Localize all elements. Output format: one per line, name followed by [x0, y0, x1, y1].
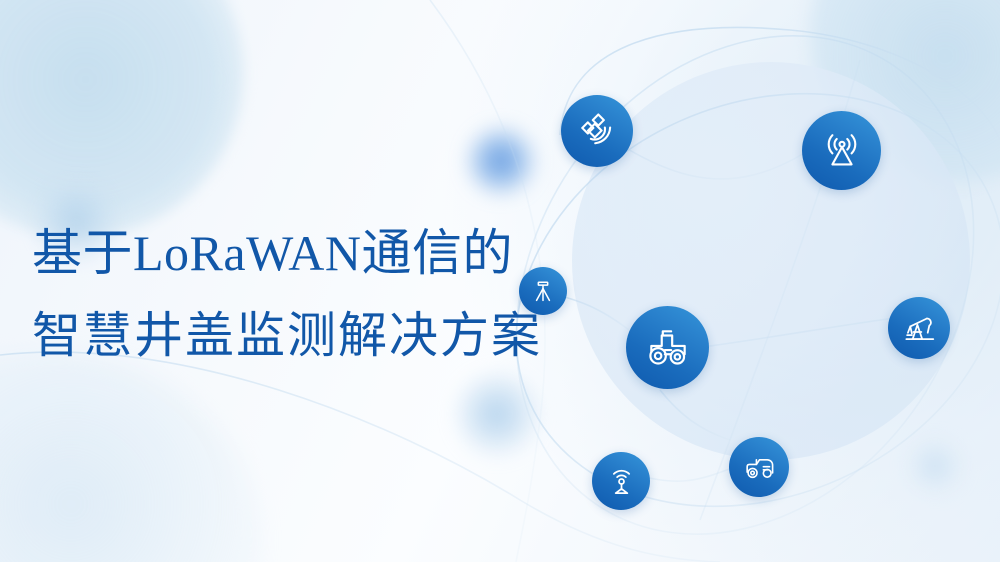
title-line-1: 基于LoRaWAN通信的 — [32, 228, 592, 278]
node-oil-pump[interactable] — [888, 297, 950, 359]
work-vehicle-icon — [741, 449, 778, 486]
node-tractor[interactable] — [626, 306, 709, 389]
node-sensor[interactable] — [592, 452, 650, 510]
radio-tower-icon — [819, 128, 865, 174]
oil-pumpjack-icon — [900, 309, 938, 347]
title-line-2: 智慧井盖监测解决方案 — [32, 312, 592, 361]
node-antenna[interactable] — [802, 111, 881, 190]
wireless-sensor-icon — [604, 464, 639, 499]
tractor-icon — [643, 323, 693, 373]
presentation-slide: 基于LoRaWAN通信的 智慧井盖监测解决方案 — [0, 0, 1000, 562]
satellite-signal-icon — [576, 110, 618, 152]
node-vehicle[interactable] — [729, 437, 789, 497]
title-block: 基于LoRaWAN通信的 智慧井盖监测解决方案 — [32, 228, 592, 361]
node-satellite[interactable] — [561, 95, 633, 167]
